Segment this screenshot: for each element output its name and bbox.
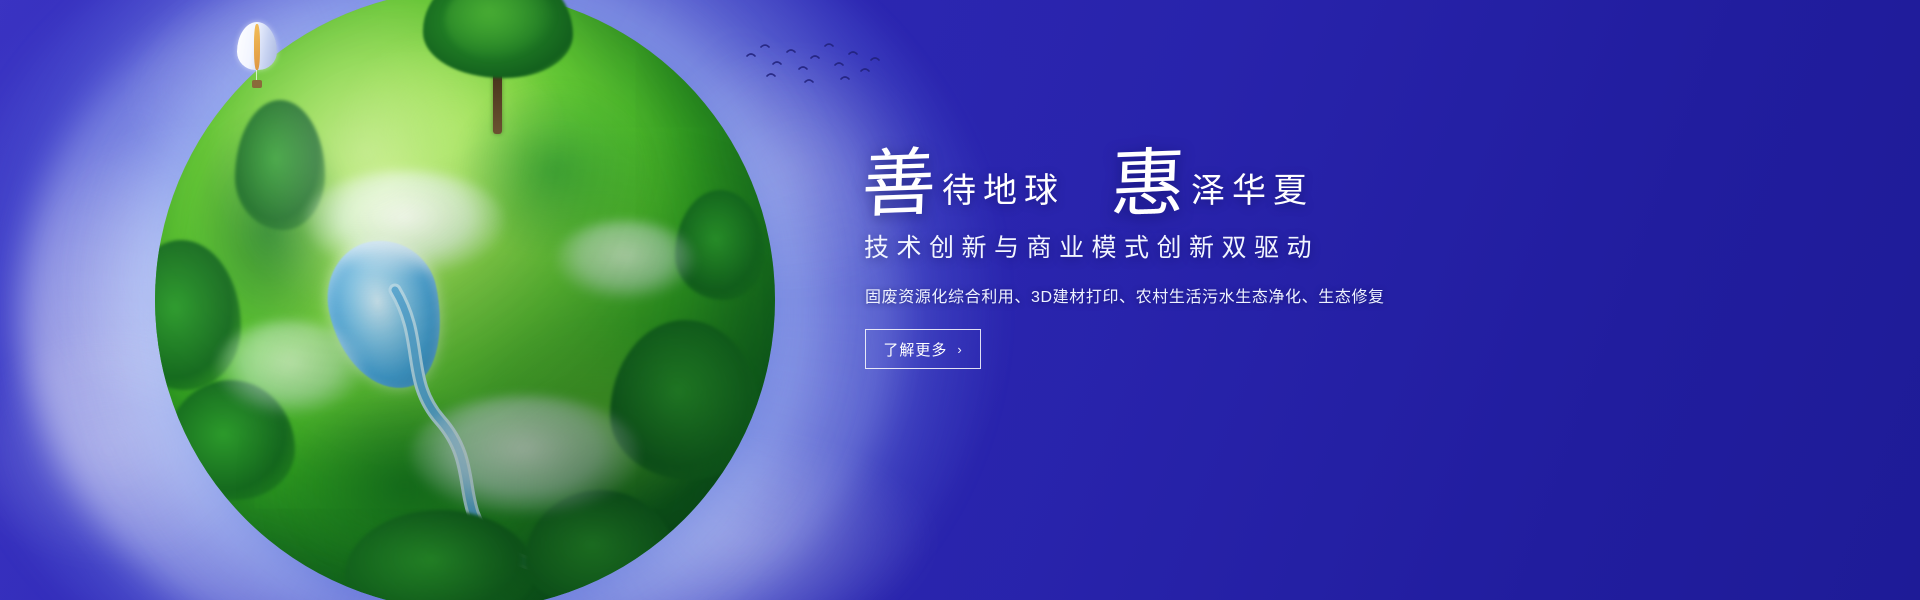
tree-silhouette-icon (165, 380, 295, 500)
subtitle: 技术创新与商业模式创新双驱动 (864, 228, 1562, 264)
tree-silhouette-icon (675, 190, 765, 300)
balloon-envelope (237, 22, 277, 70)
cloud-wisp-icon (0, 330, 260, 570)
chevron-right-icon: › (957, 342, 962, 357)
tree-silhouette-icon (610, 320, 760, 480)
bird-flock-icon (743, 38, 883, 90)
headline-char-shan: 善 (861, 149, 938, 220)
cloud-wisp-icon (520, 430, 940, 600)
tree-silhouette-icon (155, 240, 241, 390)
tree-silhouette-icon (525, 490, 675, 600)
cloud-wisp-icon (30, 120, 370, 420)
tree-crown (423, 0, 573, 78)
terrain-patch (335, 30, 565, 230)
learn-more-label: 了解更多 (883, 339, 947, 360)
description-text: 固废资源化综合利用、3D建材打印、农村生活污水生态净化、生态修复 (865, 283, 1562, 307)
globe-cloud-icon (305, 170, 505, 275)
balloon-rope (256, 70, 257, 81)
tree-crown-highlight (445, 0, 555, 60)
globe-cloud-icon (555, 220, 695, 300)
large-tree-icon (423, 0, 573, 118)
headline-rest-zehuaxia: 泽华夏 (1191, 174, 1314, 218)
headline-char-hui: 惠 (1110, 149, 1187, 220)
cloud-vortex-decoration (20, 0, 900, 600)
hot-air-balloon-icon (237, 22, 283, 94)
terrain-patch (455, 80, 655, 260)
sky-swirl-decoration (0, 0, 1000, 600)
headline: 善 待地球 惠 泽华夏 (862, 132, 1562, 218)
balloon-basket (252, 80, 262, 88)
hero-copy-block: 善 待地球 惠 泽华夏 技术创新与商业模式创新双驱动 固废资源化综合利用、3D建… (862, 132, 1562, 369)
globe-sphere (155, 0, 775, 600)
green-planet-illustration (155, 0, 775, 600)
hero-banner: 善 待地球 惠 泽华夏 技术创新与商业模式创新双驱动 固废资源化综合利用、3D建… (0, 0, 1920, 600)
globe-cloud-icon (215, 320, 365, 415)
tree-trunk (493, 56, 502, 134)
cloud-wisp-icon (120, 0, 540, 220)
headline-rest-daidiqiu: 待地球 (942, 174, 1065, 218)
lake-shape (317, 230, 456, 400)
globe-cloud-icon (410, 395, 640, 515)
tree-silhouette-icon (235, 100, 325, 230)
learn-more-button[interactable]: 了解更多 › (865, 329, 981, 369)
tree-silhouette-icon (345, 510, 535, 600)
river-shape (385, 290, 715, 590)
terrain-patch (185, 110, 355, 350)
balloon-stripe (254, 24, 260, 70)
terrain-patch (485, 320, 725, 520)
terrain-patch (275, 390, 535, 580)
